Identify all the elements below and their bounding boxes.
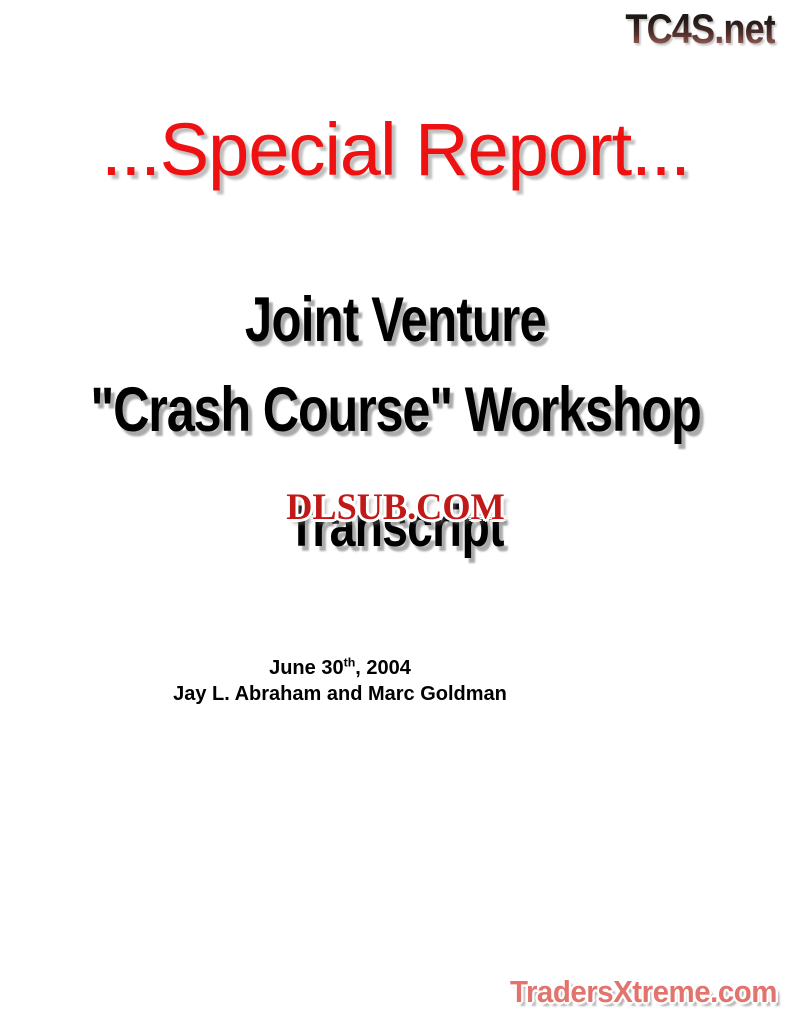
special-report-kicker: ...Special Report... bbox=[0, 108, 791, 192]
credits-date-suffix: , 2004 bbox=[355, 657, 411, 679]
document-page: TC4S.net ...Special Report... Joint Vent… bbox=[0, 0, 791, 1024]
credits-authors-line: Jay L. Abraham and Marc Goldman bbox=[0, 681, 680, 707]
credits-date-prefix: June 30 bbox=[269, 657, 343, 679]
cover-title-line-2: "Crash Course" Workshop bbox=[79, 376, 712, 444]
credits-date-ordinal: th bbox=[344, 655, 356, 669]
tc4s-brand-logo: TC4S.net bbox=[625, 8, 775, 50]
tradersxtreme-footer-brand: TradersXtreme.com bbox=[510, 974, 777, 1010]
credits-block: June 30th, 2004 Jay L. Abraham and Marc … bbox=[0, 655, 680, 707]
dlsub-watermark: DLSUB.COM bbox=[8, 487, 783, 529]
transcript-title-group: Transcript DLSUB.COM bbox=[0, 496, 791, 586]
cover-title-line-1: Joint Venture bbox=[87, 286, 704, 354]
credits-date-line: June 30th, 2004 bbox=[0, 655, 680, 681]
cover-title-block: Joint Venture "Crash Course" Workshop bbox=[0, 286, 791, 444]
